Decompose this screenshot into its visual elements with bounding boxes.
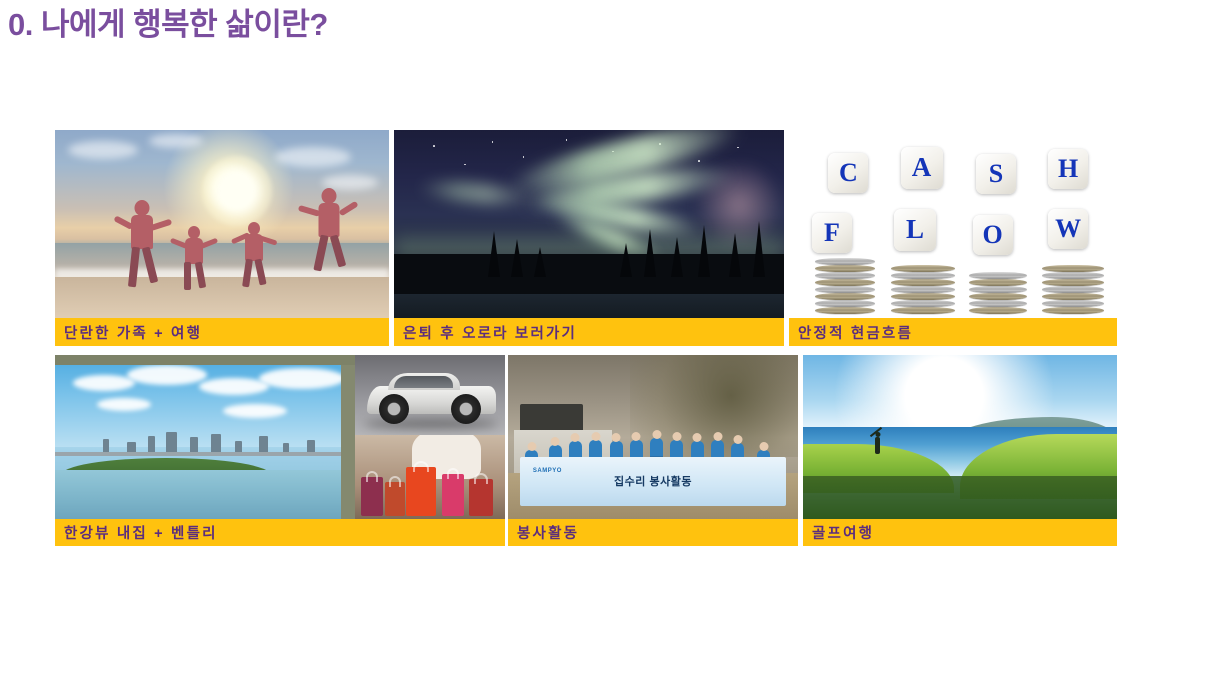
photo-golf-cliff — [803, 355, 1117, 519]
die-S: S — [976, 154, 1016, 194]
spruce-tree — [671, 237, 683, 277]
caption-golf: 골프여행 — [803, 519, 1117, 546]
golfer-silhouette — [875, 437, 880, 454]
illustration-white-bentley-coupe — [355, 355, 505, 435]
illustration-family-beach-sunset — [55, 130, 389, 318]
illustration-shopping-bags — [355, 435, 505, 519]
lake — [394, 294, 784, 318]
card-hangang[interactable]: 한강뷰 내집 + 벤틀리 — [55, 355, 505, 546]
caption-hangang: 한강뷰 내집 + 벤틀리 — [55, 519, 505, 546]
spruce-tree — [511, 239, 523, 277]
card-golf[interactable]: 골프여행 — [803, 355, 1117, 546]
volunteer-banner: SAMPYO 집수리 봉사활동 — [520, 457, 787, 506]
coin-stack — [891, 256, 955, 314]
photo-volunteer-group: SAMPYO 집수리 봉사활동 — [508, 355, 798, 519]
spruce-tree — [644, 229, 656, 277]
photo-hangang-river-view — [55, 355, 355, 519]
caption-cashflow: 안정적 현금흐름 — [789, 318, 1117, 346]
photo-bentley-car — [355, 355, 505, 435]
die-W: W — [1048, 209, 1088, 249]
illustration-han-river-window-view — [55, 355, 355, 519]
spruce-tree — [698, 225, 710, 277]
die-F: F — [812, 213, 852, 253]
banner-headline: 집수리 봉사활동 — [614, 473, 692, 489]
river-water — [55, 470, 355, 519]
figure-mother — [309, 188, 349, 284]
photo-cash-flow: C F A L S O — [789, 130, 1117, 318]
spruce-tree — [753, 221, 765, 277]
illustration-aurora-borealis — [394, 130, 784, 318]
card-family[interactable]: 단란한 가족 + 여행 — [55, 130, 389, 346]
photo-shopping-bags — [355, 435, 505, 519]
cloud — [68, 141, 138, 159]
die-A: A — [901, 147, 943, 189]
figure-child-left — [179, 226, 209, 292]
photo-hangang-group — [55, 355, 505, 519]
illustration-cash-flow-dice: C F A L S O — [789, 130, 1117, 318]
coin-stack — [1042, 258, 1104, 314]
banner-logo-text: SAMPYO — [533, 468, 562, 474]
collage-column — [355, 355, 505, 519]
window-frame-right — [341, 355, 355, 519]
sun-flare — [202, 156, 272, 226]
die-C: C — [828, 153, 868, 193]
card-volunteer[interactable]: SAMPYO 집수리 봉사활동 봉사활동 — [508, 355, 798, 546]
caption-aurora: 은퇴 후 오로라 보러가기 — [394, 318, 784, 346]
figure-child-right — [239, 222, 269, 292]
cloud — [275, 147, 351, 167]
figure-father — [122, 200, 162, 292]
bridge — [55, 452, 355, 456]
spruce-tree — [729, 233, 741, 277]
coin-stack — [969, 266, 1027, 314]
spruce-tree — [620, 243, 632, 277]
spruce-tree — [488, 231, 500, 277]
caption-volunteer: 봉사활동 — [508, 519, 798, 546]
city-skyline — [55, 430, 355, 453]
card-cashflow[interactable]: C F A L S O — [789, 130, 1117, 346]
illustration-seaside-golf-course — [803, 355, 1117, 519]
foreground-scrub — [803, 476, 1117, 519]
spruce-tree — [534, 247, 546, 277]
die-O: O — [973, 215, 1013, 255]
die-H: H — [1048, 149, 1088, 189]
die-L: L — [894, 209, 936, 251]
cloud — [149, 134, 203, 148]
caption-family: 단란한 가족 + 여행 — [55, 318, 389, 346]
page-title: 0. 나에게 행복한 삶이란? — [8, 6, 328, 45]
window-frame-top — [55, 355, 355, 365]
illustration-volunteer-group-photo: SAMPYO 집수리 봉사활동 — [508, 355, 798, 519]
photo-aurora — [394, 130, 784, 318]
photo-family-beach — [55, 130, 389, 318]
card-aurora[interactable]: 은퇴 후 오로라 보러가기 — [394, 130, 784, 346]
coin-stack — [815, 252, 875, 314]
